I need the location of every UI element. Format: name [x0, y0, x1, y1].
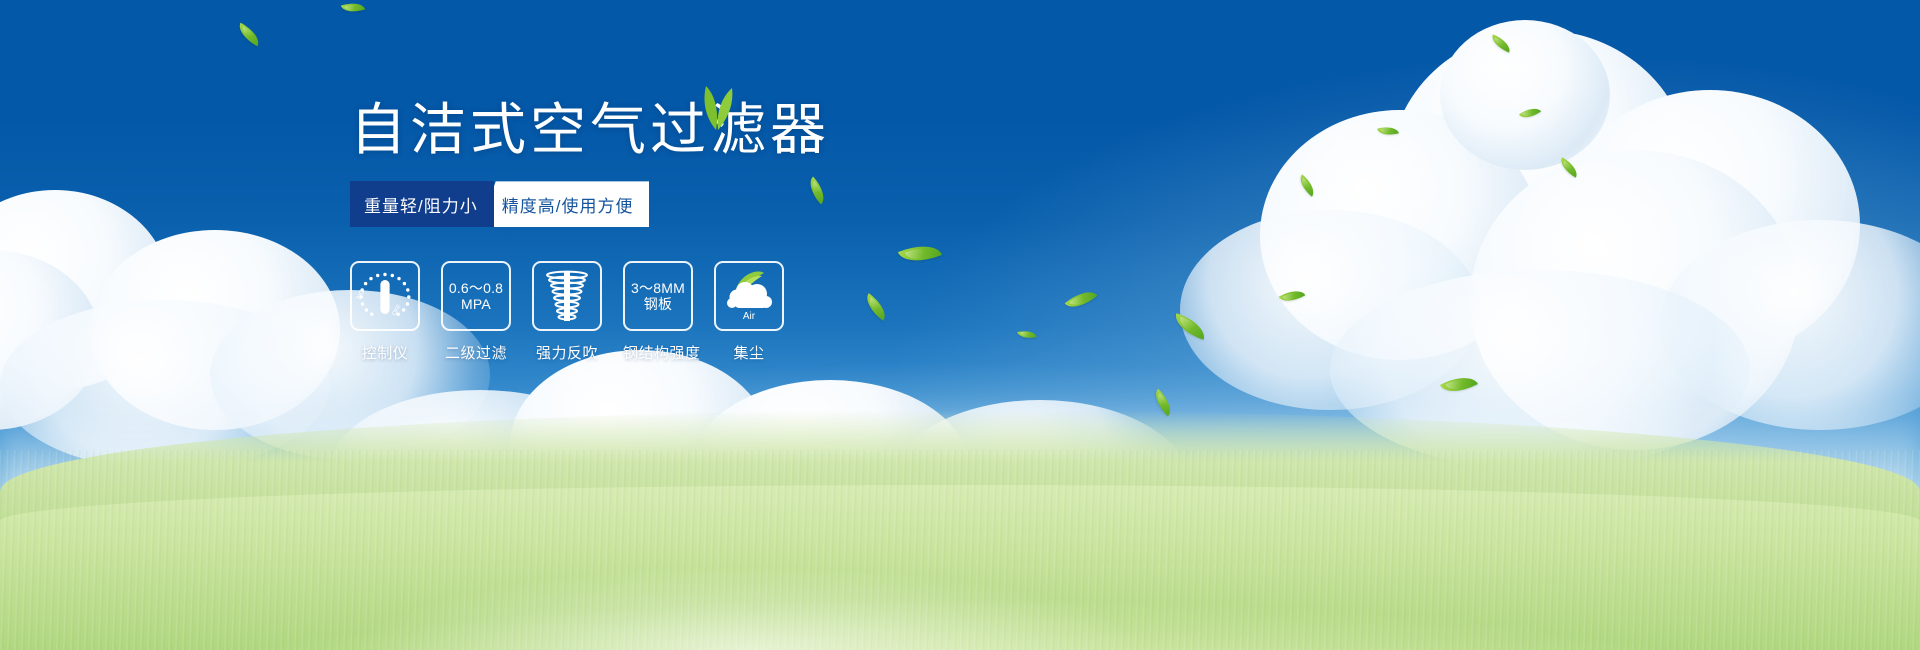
feature-label: 强力反吹: [532, 342, 602, 363]
feature-label: 控制仪: [350, 342, 420, 363]
feature-item: NO OFF 控制仪: [350, 261, 420, 363]
feature-icon-list: NO OFF 控制仪 0.6～0.8 MPA 二级过滤: [350, 261, 1050, 363]
grass-field-front: [0, 485, 1920, 650]
product-banner: 自洁式空气过滤器 重量轻/阻力小 精度高/使用方便: [0, 0, 1920, 650]
banner-content: 自洁式空气过滤器 重量轻/阻力小 精度高/使用方便: [350, 100, 1050, 363]
feature-label: 二级过滤: [441, 342, 511, 363]
feature-box: Air: [714, 261, 784, 331]
air-cloud-icon: Air: [720, 267, 778, 325]
sprout-leaves-icon: [686, 84, 748, 130]
svg-text:NO: NO: [356, 288, 367, 301]
steel-plate-text-icon: 3～8MM 钢板: [631, 280, 685, 313]
pressure-text-icon: 0.6～0.8 MPA: [449, 280, 503, 313]
badge-precision-convenience: 精度高/使用方便: [480, 181, 650, 227]
feature-box: 3～8MM 钢板: [623, 261, 693, 331]
feature-label: 集尘: [714, 342, 784, 363]
air-label: Air: [743, 311, 756, 322]
feature-item: 0.6～0.8 MPA 二级过滤: [441, 261, 511, 363]
feature-item: 3～8MM 钢板 钢结构强度: [623, 261, 693, 363]
reverse-blow-coil-icon: [540, 268, 594, 324]
feature-box: [532, 261, 602, 331]
control-gauge-icon: NO OFF: [355, 266, 415, 326]
feature-box: 0.6～0.8 MPA: [441, 261, 511, 331]
feature-item: 强力反吹: [532, 261, 602, 363]
svg-text:OFF: OFF: [392, 304, 404, 318]
feature-item: Air 集尘: [714, 261, 784, 363]
badge-weight-resistance: 重量轻/阻力小: [350, 181, 494, 227]
tagline-badges: 重量轻/阻力小 精度高/使用方便: [350, 181, 674, 227]
feature-label: 钢结构强度: [623, 342, 693, 363]
feature-box: NO OFF: [350, 261, 420, 331]
